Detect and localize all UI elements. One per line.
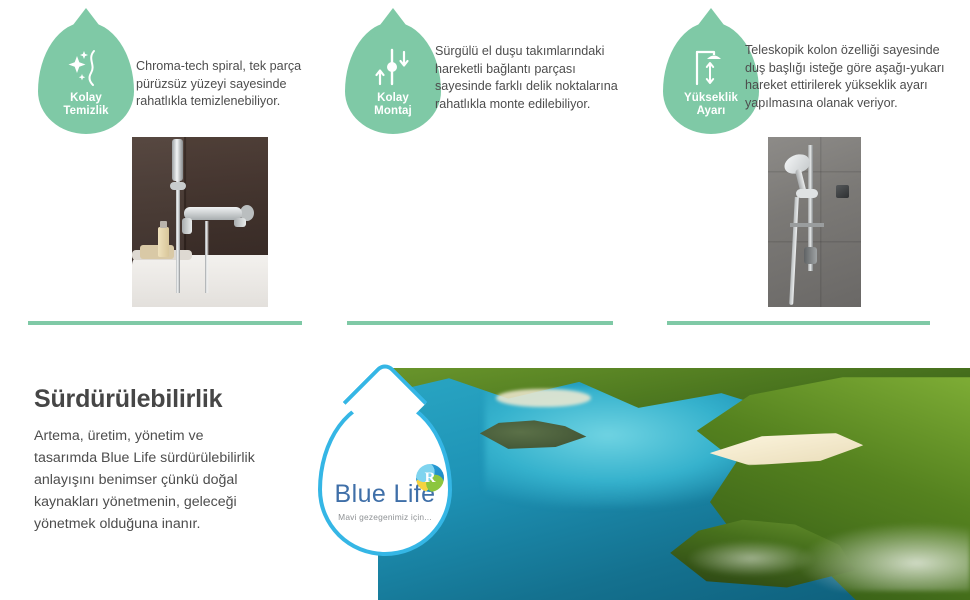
bath-mixer-photo bbox=[132, 137, 268, 307]
sustainability-body-text: Artema, üretim, yönetim ve tasarımda Blu… bbox=[34, 425, 266, 535]
feature-badge-label: Kolay Montaj bbox=[374, 92, 412, 118]
feature-panel-easy-cleaning: Kolay Temizlik Chroma-tech spiral, tek p… bbox=[0, 0, 325, 340]
brochure-page: Kolay Temizlik Chroma-tech spiral, tek p… bbox=[0, 0, 970, 600]
section-divider bbox=[28, 321, 302, 325]
coastal-landscape-photo bbox=[378, 368, 970, 600]
badge-label-line2: Ayarı bbox=[697, 105, 726, 117]
feature-description: Chroma-tech spiral, tek parça pürüzsüz y… bbox=[136, 58, 322, 111]
badge-label-line2: Temizlik bbox=[63, 105, 108, 117]
badge-label-line1: Kolay bbox=[377, 92, 409, 104]
feature-panel-easy-installation: Kolay Montaj Sürgülü el duşu takımlarınd… bbox=[325, 0, 645, 340]
badge-label-line1: Kolay bbox=[70, 92, 102, 104]
feature-description: Sürgülü el duşu takımlarındaki hareketli… bbox=[435, 43, 635, 113]
feature-badge-label: Kolay Temizlik bbox=[63, 92, 108, 118]
section-divider bbox=[667, 321, 930, 325]
shower-head-height-icon bbox=[688, 48, 734, 88]
sparkle-spiral-icon bbox=[63, 48, 109, 88]
recycle-globe-icon: R bbox=[416, 464, 444, 492]
feature-description: Teleskopik kolon özelliği sayesinde duş … bbox=[745, 42, 955, 112]
badge-label-line1: Yükseklik bbox=[684, 92, 738, 104]
feature-panel-height-adjustment: Yükseklik Ayarı Teleskopik kolon özelliğ… bbox=[645, 0, 970, 340]
feature-badge-label: Yükseklik Ayarı bbox=[684, 92, 738, 118]
page-title: Sürdürülebilirlik bbox=[34, 385, 222, 414]
feature-badge-droplet: Kolay Temizlik bbox=[38, 22, 134, 134]
logo-tagline: Mavi gezegenimiz için... bbox=[322, 512, 448, 522]
feature-badge-droplet: Kolay Montaj bbox=[345, 22, 441, 134]
slider-rail-arrows-icon bbox=[370, 48, 416, 88]
globe-letter: R bbox=[416, 464, 444, 492]
badge-label-line2: Montaj bbox=[374, 105, 412, 117]
section-divider bbox=[347, 321, 613, 325]
